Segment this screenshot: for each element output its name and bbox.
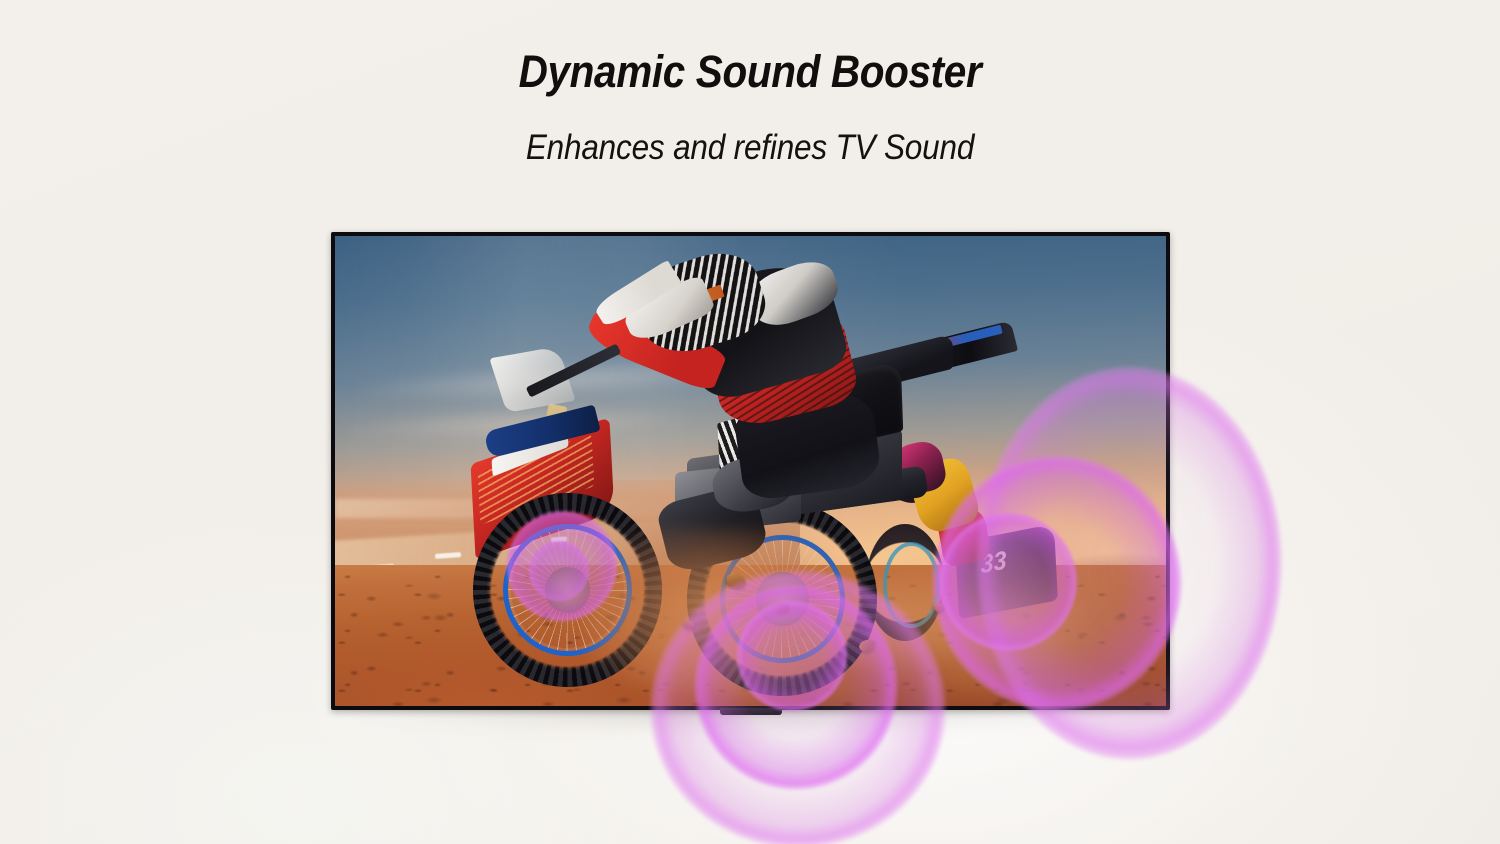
tv-unit: 33: [331, 232, 1170, 710]
tv-bezel: 33: [331, 232, 1170, 710]
page-root: Dynamic Sound Booster Enhances and refin…: [0, 0, 1500, 844]
page-title: Dynamic Sound Booster: [75, 48, 1425, 95]
heading-block: Dynamic Sound Booster Enhances and refin…: [0, 0, 1500, 168]
scene-dust-rear: [584, 527, 867, 696]
wheel-hub: [545, 567, 590, 614]
tv-screen: 33: [335, 236, 1166, 706]
page-subtitle: Enhances and refines TV Sound: [75, 128, 1425, 168]
tv-stand: [720, 708, 782, 715]
